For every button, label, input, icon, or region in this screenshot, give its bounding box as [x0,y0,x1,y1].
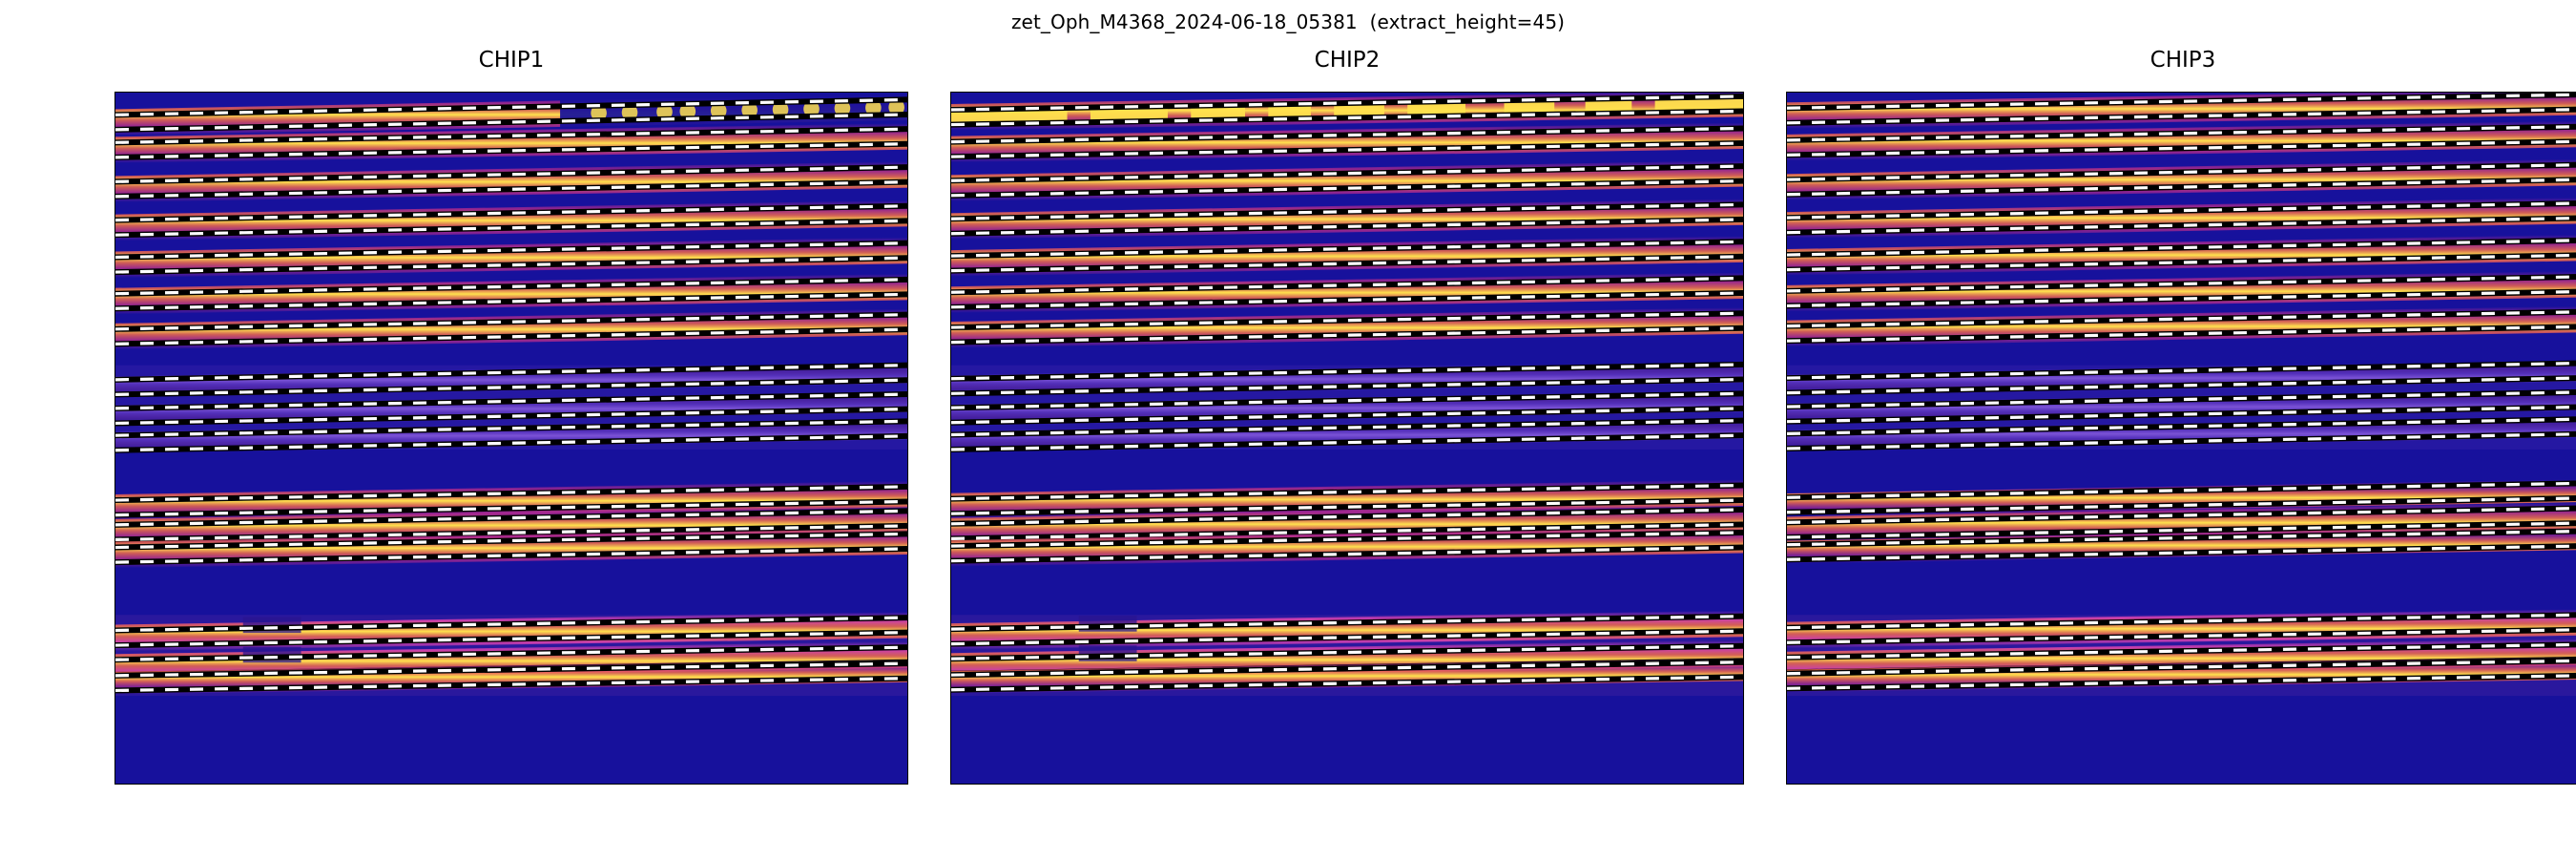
x-tick-mark [1145,784,1146,785]
x-tick-mark [1725,784,1726,785]
panel-container: CHIP102505007501000125015001750200002505… [0,0,2576,859]
y-tick-mark [950,362,951,363]
x-tick-mark [405,784,406,785]
x-tick-mark [696,784,696,785]
x-tick-mark [1628,784,1629,785]
y-tick-mark [114,193,115,194]
x-tick-mark [1338,784,1339,785]
panel-title-chip2: CHIP2 [950,48,1744,73]
y-tick-mark [950,531,951,532]
axes-chip1[interactable]: 0250500750100012501500175020000250500750… [114,92,908,785]
y-tick-mark [1786,700,1787,701]
y-tick-mark [114,446,115,447]
figure-canvas: zet_Oph_M4368_2024-06-18_05381 (extract_… [0,0,2576,859]
x-tick-mark [1883,784,1884,785]
y-tick-mark [950,700,951,701]
x-tick-mark [2561,784,2562,785]
y-tick-mark [950,784,951,785]
panel-title-chip3: CHIP3 [1786,48,2576,73]
x-tick-mark [115,784,116,785]
x-tick-mark [212,784,213,785]
panel-title-chip1: CHIP1 [114,48,908,73]
y-tick-mark [114,615,115,616]
y-tick-mark [1786,784,1787,785]
y-tick-mark [1786,109,1787,110]
x-tick-mark [309,784,310,785]
detector-image-chip1 [115,93,907,784]
x-tick-mark [599,784,600,785]
y-tick-mark [950,193,951,194]
y-tick-mark [114,362,115,363]
detector-image-chip2 [951,93,1743,784]
x-tick-mark [1531,784,1532,785]
x-tick-mark [1787,784,1788,785]
y-tick-mark [950,615,951,616]
y-tick-mark [114,109,115,110]
y-tick-mark [1786,615,1787,616]
x-tick-mark [2367,784,2368,785]
y-tick-mark [1786,531,1787,532]
y-tick-mark [1786,193,1787,194]
x-tick-mark [1241,784,1242,785]
panel-chip3: CHIP3025050075010001250150017502000pixel [1786,92,2576,785]
y-tick-mark [1786,278,1787,279]
x-tick-mark [502,784,503,785]
x-tick-mark [792,784,793,785]
y-tick-mark [950,446,951,447]
detector-image-chip3 [1787,93,2576,784]
y-tick-mark [950,278,951,279]
y-tick-mark [1786,446,1787,447]
y-tick-mark [114,784,115,785]
x-tick-mark [1048,784,1049,785]
axes-chip3[interactable]: 025050075010001250150017502000pixel [1786,92,2576,785]
y-tick-mark [950,109,951,110]
x-tick-mark [2271,784,2272,785]
x-tick-mark [2173,784,2174,785]
x-tick-mark [2463,784,2464,785]
y-tick-mark [114,278,115,279]
y-tick-mark [1786,362,1787,363]
axes-chip2[interactable]: 025050075010001250150017502000pixel [950,92,1744,785]
x-tick-mark [2077,784,2078,785]
y-tick-mark [114,700,115,701]
x-tick-mark [1981,784,1982,785]
x-tick-mark [889,784,890,785]
panel-chip1: CHIP102505007501000125015001750200002505… [114,92,908,785]
panel-chip2: CHIP2025050075010001250150017502000pixel [950,92,1744,785]
x-tick-mark [1435,784,1436,785]
y-tick-mark [114,531,115,532]
x-tick-mark [951,784,952,785]
